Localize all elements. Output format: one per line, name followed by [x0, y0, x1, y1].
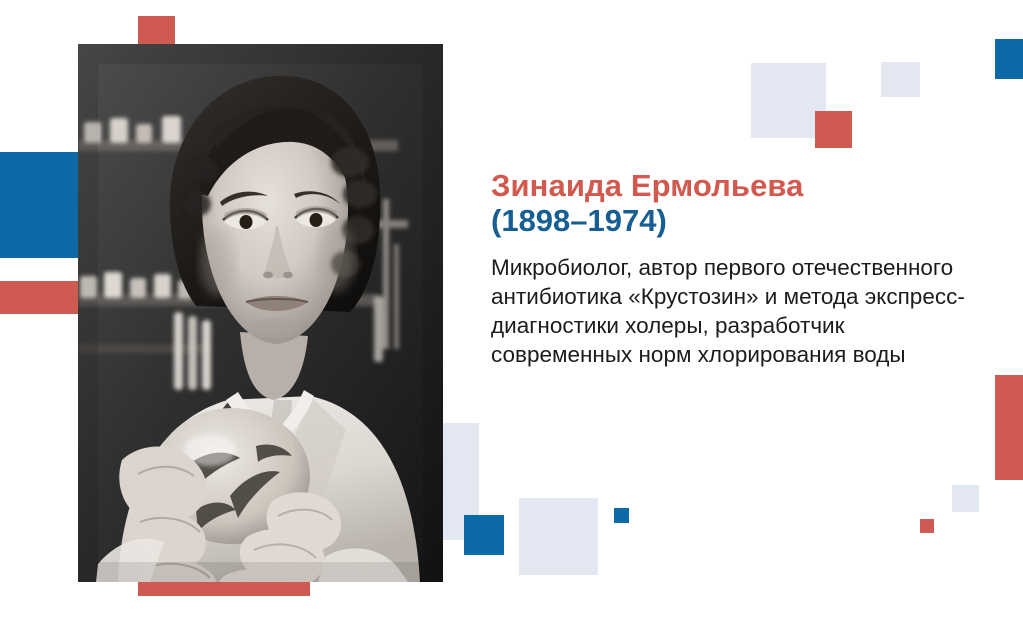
slide-root: Зинаида Ермольева (1898–1974) Микробиоло…	[0, 0, 1023, 623]
decor-square-blue-small-bottom	[614, 508, 629, 523]
decor-rect-red-bottom-right	[995, 375, 1023, 480]
decor-square-pale-bottom-right	[952, 485, 979, 512]
decor-square-pale-large-bottom	[519, 498, 598, 575]
decor-bar-red-left	[0, 281, 82, 314]
decor-square-red-top-right	[815, 111, 852, 148]
decor-square-blue-bottom-left	[464, 515, 504, 555]
decor-bar-red-bottom	[138, 581, 310, 596]
text-column: Зинаида Ермольева (1898–1974) Микробиоло…	[491, 168, 981, 369]
person-biography: Микробиолог, автор первого отечественног…	[491, 253, 969, 369]
person-lifespan: (1898–1974)	[491, 203, 981, 238]
portrait-illustration	[78, 44, 443, 582]
decor-bar-blue-left	[0, 152, 82, 258]
person-name-title: Зинаида Ермольева	[491, 168, 981, 203]
decor-square-red-top	[138, 16, 175, 47]
decor-square-blue-top-right	[995, 39, 1023, 79]
decor-square-pale-small-top-right	[881, 62, 920, 97]
decor-square-red-small-bottom-right	[920, 519, 934, 533]
portrait-photo	[78, 44, 443, 582]
